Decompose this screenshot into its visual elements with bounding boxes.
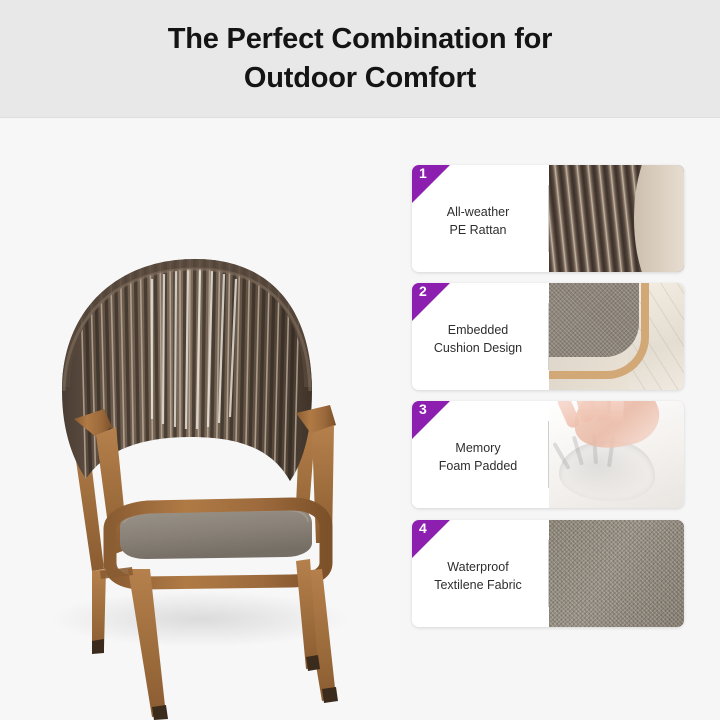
foam-handprint [559,441,655,501]
feature-card-list: 1 All-weather PE Rattan 2 Embedded Cushi… [412,150,692,650]
feature-2-text-pane: 2 Embedded Cushion Design [412,283,548,390]
feature-2-image [549,283,684,390]
feature-3-number: 3 [419,402,427,416]
chair-illustration [0,119,400,720]
memory-foam-hand-art [549,401,684,508]
feature-3-badge [412,401,450,439]
header-banner: The Perfect Combination for Outdoor Comf… [0,0,720,118]
chair-leg-rear-left-lower [92,569,106,651]
feature-1-text-pane: 1 All-weather PE Rattan [412,165,548,272]
feature-1-image [549,165,684,272]
chair-foot-front-left [152,705,168,720]
feature-1-badge [412,165,450,203]
feature-3-text-pane: 3 Memory Foam Padded [412,401,548,508]
rattan-texture-art [549,165,684,272]
feature-card-2[interactable]: 2 Embedded Cushion Design [412,283,684,390]
seat-cushion [120,507,312,559]
feature-2-badge [412,283,450,321]
feature-4-number: 4 [419,521,427,535]
cushion-corner-art [549,283,684,390]
feature-4-text-pane: 4 Waterproof Textilene Fabric [412,520,548,627]
feature-3-label: Memory Foam Padded [439,440,518,476]
hand-finger-4 [610,401,624,425]
product-infographic: The Perfect Combination for Outdoor Comf… [0,0,720,720]
feature-card-4[interactable]: 4 Waterproof Textilene Fabric [412,520,684,627]
page-title-line-2: Outdoor Comfort [244,59,476,97]
cushion-art-wood-frame [549,283,649,379]
feature-3-image [549,401,684,508]
textilene-weave-art [549,520,684,627]
chair-foot-rear-right [306,655,320,671]
feature-1-label: All-weather PE Rattan [447,204,510,240]
feature-2-label: Embedded Cushion Design [434,322,522,358]
product-image-panel [0,119,400,720]
feature-1-number: 1 [419,166,427,180]
page-title-line-1: The Perfect Combination for [168,20,553,58]
feature-4-label: Waterproof Textilene Fabric [434,559,522,595]
chair-foot-front-right [322,687,338,703]
chair-foot-rear-left [92,639,104,654]
feature-4-image [549,520,684,627]
feature-card-1[interactable]: 1 All-weather PE Rattan [412,165,684,272]
feature-2-number: 2 [419,284,427,298]
feature-4-badge [412,520,450,558]
feature-card-3[interactable]: 3 Memory Foam Padded [412,401,684,508]
